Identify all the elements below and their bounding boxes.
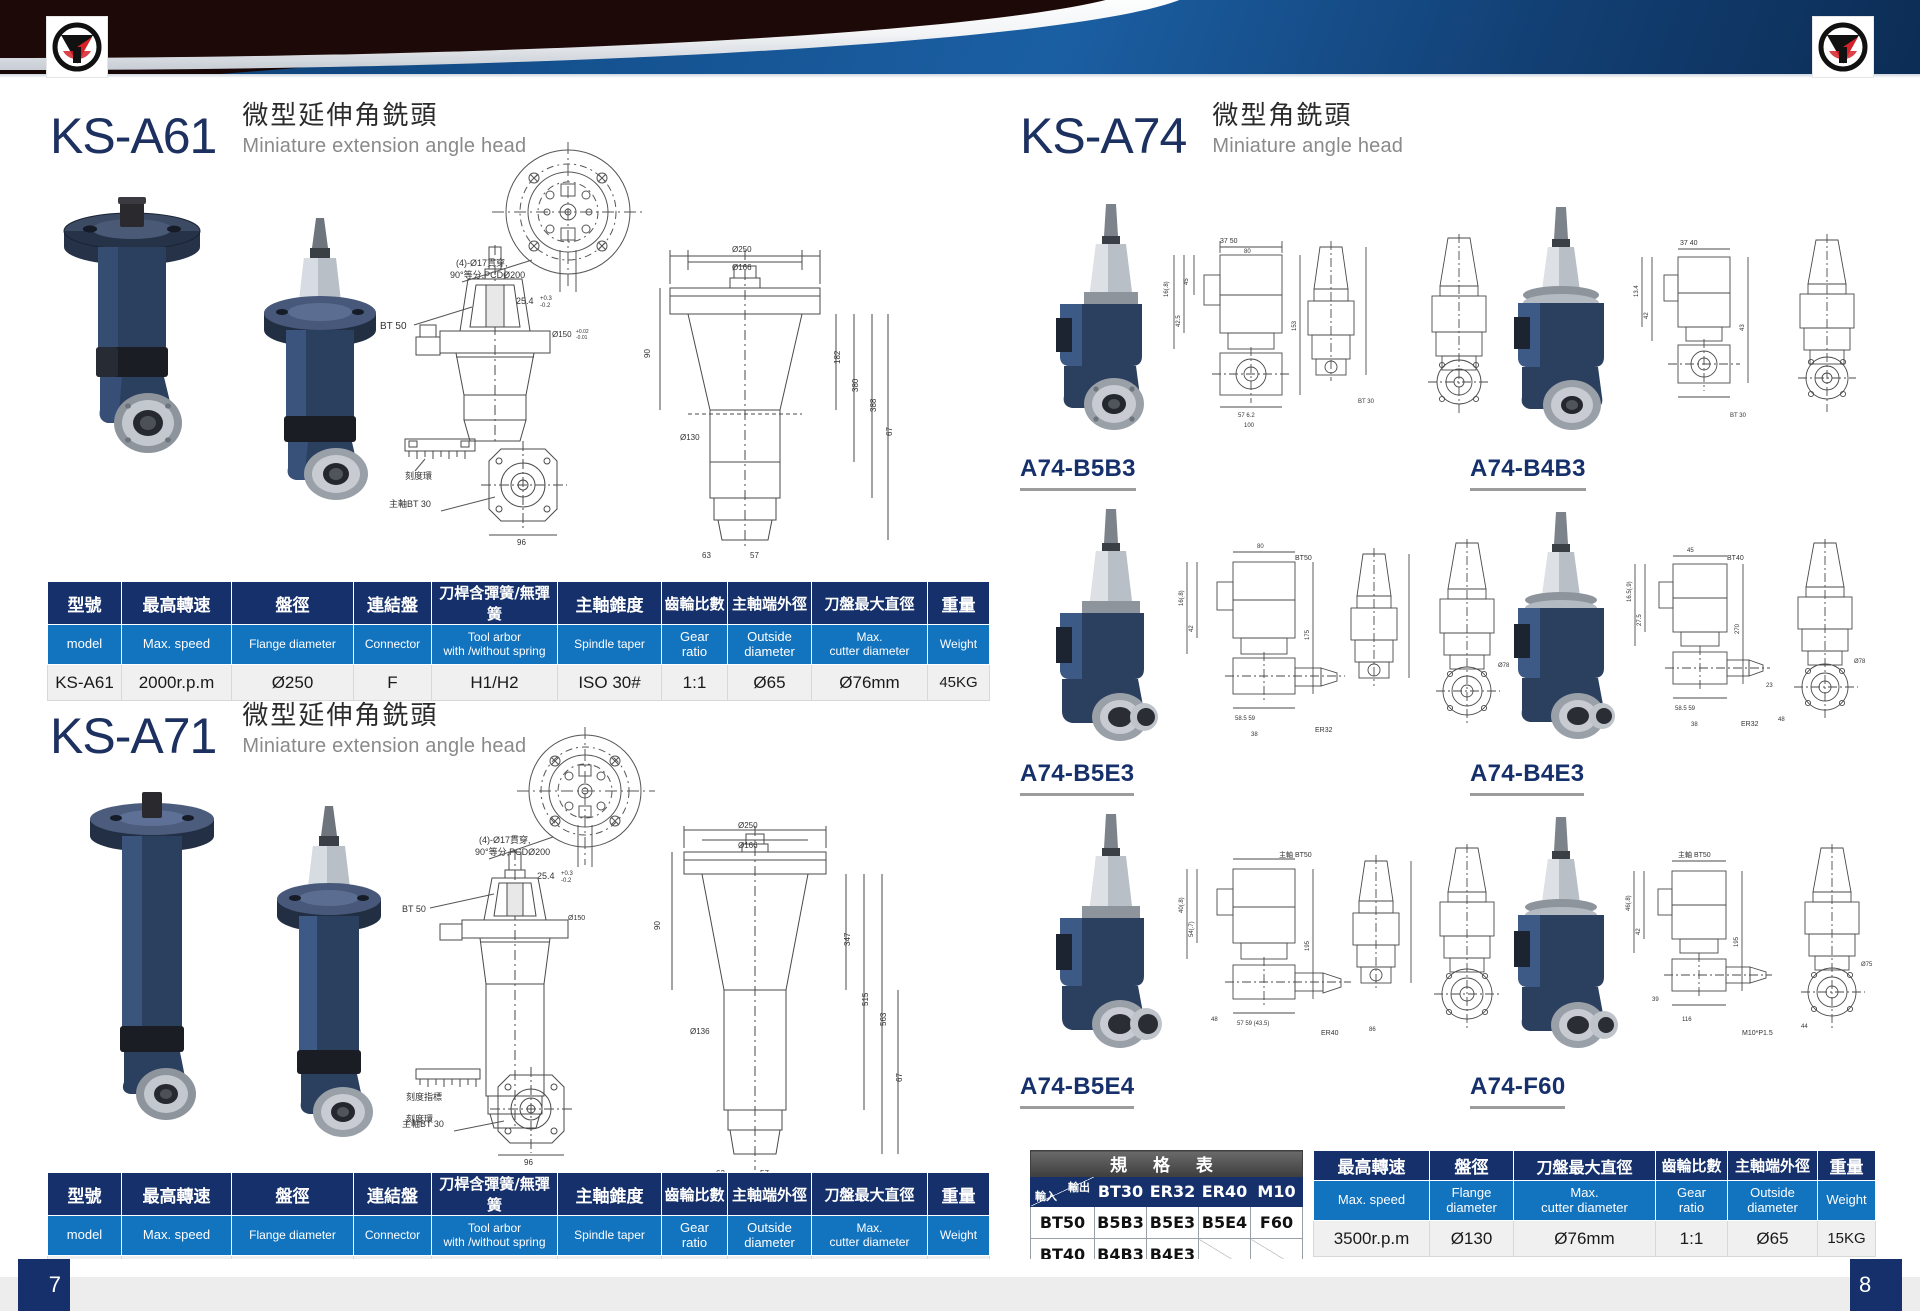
top-banner [0,0,1920,78]
spec-th-zh-5: 重量 [1818,1151,1876,1181]
spec-value-row-ks-a61: KS-A61 2000r.p.m Ø250 F H1/H2 ISO 30# 1:… [48,665,990,701]
spec-td-4: H1/H2 [432,665,558,701]
product-heading-ks-a71: KS-A71 微型延伸角銑頭 Miniature extension angle… [50,700,526,761]
svg-text:37 50: 37 50 [1220,238,1238,245]
product-model-ks-a74: KS-A74 [1020,113,1186,161]
product-photo-a74-b5e4 [1020,810,1190,1060]
spec-th-zh-3: 連結盤 [354,582,432,625]
spec-td-7: Ø65 [728,665,812,701]
engineering-drawing-a74-f60: 主軸 BT50 46(.8) 42 39 116 195 M10*P1.5 [1622,845,1782,1045]
svg-text:195: 195 [1734,936,1740,947]
svg-text:主軸 BT50: 主軸 BT50 [1678,850,1711,859]
variant-caption-a74-b5e3: A74-B5E3 [1020,760,1134,796]
matrix-axis-corner: 輸出 輸入 [1031,1177,1095,1207]
svg-text:67: 67 [895,1073,904,1082]
product-name-en-ks-a74: Miniature angle head [1212,133,1403,159]
matrix-axis-input-label: 輸入 [1035,1188,1057,1204]
spec-th-en-7: Outside diameter [728,625,812,665]
spec-th-zh-0: 型號 [48,1173,122,1216]
spec-th-zh-1: 最高轉速 [122,582,232,625]
svg-text:270: 270 [1735,623,1741,634]
svg-text:16(.8): 16(.8) [1179,590,1185,606]
page-number-right: 8 [1850,1259,1902,1311]
matrix-col-3: M10 [1251,1177,1303,1207]
spec-th-en-8: Max. cutter diameter [812,625,928,665]
spec-th-en-4: Tool arbor with /without spring [432,1216,558,1256]
spec-td-9: 45KG [928,665,990,701]
svg-text:57 59 (43.5): 57 59 (43.5) [1237,1021,1269,1027]
spec-th-zh-1: 盤徑 [1430,1151,1514,1181]
spec-td-5: 15KG [1818,1221,1876,1257]
engineering-drawing-ks-a61-bottom-detail: 刻度環 主軸BT 30 96 [385,435,625,550]
spec-th-en-8: Max. cutter diameter [812,1216,928,1256]
matrix-title-row: 規 格 表 [1031,1151,1303,1177]
spec-th-zh-5: 主軸錐度 [558,1173,662,1216]
company-y-logo-right [1812,16,1874,78]
svg-text:58.5 59: 58.5 59 [1235,716,1256,722]
spec-th-en-2: Flange diameter [232,1216,354,1256]
footer-grey-band [0,1277,1920,1311]
svg-text:Ø150: Ø150 [568,915,585,922]
spec-th-zh-7: 主軸端外徑 [728,1173,812,1216]
spec-th-zh-2: 盤徑 [232,1173,354,1216]
svg-text:Ø136: Ø136 [690,1027,710,1036]
spec-header-zh-row-a74: 最高轉速 盤徑 刀盤最大直徑 齒輪比數 主軸端外徑 重量 [1314,1151,1876,1181]
svg-text:48: 48 [1778,717,1785,723]
svg-text:80: 80 [1257,544,1264,550]
svg-text:Ø166: Ø166 [738,841,758,850]
product-photo-ks-a71-front [60,790,240,1130]
page-footer: 7 8 [0,1259,1920,1311]
svg-text:刻度環: 刻度環 [405,470,432,481]
svg-text:347: 347 [843,932,852,946]
engineering-drawing-a74-b4b3-side [1760,230,1905,420]
matrix-cell-0-0: B5B3 [1095,1207,1147,1239]
svg-text:Ø75: Ø75 [1861,962,1873,968]
spec-td-2: Ø76mm [1514,1221,1656,1257]
spec-th-en-4: Outside diameter [1728,1181,1818,1221]
product-photo-a74-b4e3 [1470,510,1640,755]
spec-th-en-5: Spindle taper [558,1216,662,1256]
svg-text:42: 42 [1636,928,1642,935]
svg-text:38: 38 [1691,722,1698,728]
matrix-col-0: BT30 [1095,1177,1147,1207]
engineering-drawing-ks-a61-section: BT 50 Ø150 +0.02 -0.01 [380,245,610,445]
spec-td-4: Ø65 [1728,1221,1818,1257]
matrix-row-label-0: BT50 [1031,1207,1095,1239]
svg-text:16.5(.9): 16.5(.9) [1627,581,1633,602]
svg-text:45: 45 [1184,278,1190,285]
spec-th-zh-2: 盤徑 [232,582,354,625]
page-number-left: 7 [18,1259,70,1311]
engineering-drawing-a74-b4e3-side: Ø78 23 48 [1758,535,1908,735]
svg-text:BT 50: BT 50 [402,904,426,914]
spec-table-ks-a61: 型號 最高轉速 盤徑 連結盤 刀桿含彈簧/無彈簧 主軸錐度 齒輪比數 主軸端外徑… [47,581,990,701]
svg-text:90: 90 [653,921,662,930]
svg-text:380: 380 [851,378,860,392]
spec-th-zh-6: 齒輪比數 [662,582,728,625]
product-photo-a74-f60 [1470,815,1640,1065]
product-model-ks-a61: KS-A61 [50,113,216,161]
svg-text:Ø166: Ø166 [732,263,752,272]
spec-th-zh-4: 主軸端外徑 [1728,1151,1818,1181]
banner-hairline [0,74,1920,78]
spec-th-en-1: Max. speed [122,1216,232,1256]
product-heading-ks-a74: KS-A74 微型角銑頭 Miniature angle head [1020,100,1403,161]
svg-text:Ø150: Ø150 [552,330,572,339]
spec-td-8: Ø76mm [812,665,928,701]
svg-text:-0.01: -0.01 [576,335,588,341]
engineering-drawing-a74-f60-side: Ø75 44 [1765,840,1915,1040]
engineering-drawing-ks-a71-elevation: Ø250 Ø166 90 347 515 563 67 Ø136 63 57 [650,820,910,1180]
svg-text:67: 67 [885,427,894,436]
spec-th-en-1: Flange diameter [1430,1181,1514,1221]
product-name-zh-ks-a74: 微型角銑頭 [1212,100,1403,133]
spec-th-en-5: Spindle taper [558,625,662,665]
svg-text:BT 50: BT 50 [380,321,407,332]
spec-th-en-7: Outside diameter [728,1216,812,1256]
variant-caption-a74-b4b3: A74-B4B3 [1470,455,1586,491]
spec-th-zh-7: 主軸端外徑 [728,582,812,625]
spec-th-en-0: Max. speed [1314,1181,1430,1221]
svg-text:BT50: BT50 [1295,555,1312,562]
matrix-cell-0-3: F60 [1251,1207,1303,1239]
product-photo-a74-b4b3 [1470,205,1630,440]
spec-header-zh-row-a71: 型號 最高轉速 盤徑 連結盤 刀桿含彈簧/無彈簧 主軸錐度 齒輪比數 主軸端外徑… [48,1173,990,1216]
engineering-drawing-a74-b4e3: 45 BT40 16.5(.9) 27.5 58.5 59 270 ER32 3… [1625,540,1780,740]
matrix-cell-0-2: B5E4 [1199,1207,1251,1239]
spec-th-en-0: model [48,625,122,665]
svg-text:13.4: 13.4 [1634,285,1640,297]
spec-th-en-6: Gear ratio [662,1216,728,1256]
svg-text:42.5: 42.5 [1176,315,1182,327]
svg-text:ER32: ER32 [1315,727,1333,734]
spec-th-zh-8: 刀盤最大直徑 [812,1173,928,1216]
svg-text:96: 96 [517,538,526,547]
spec-header-zh-row: 型號 最高轉速 盤徑 連結盤 刀桿含彈簧/無彈簧 主軸錐度 齒輪比數 主軸端外徑… [48,582,990,625]
spec-table-ks-a74: 最高轉速 盤徑 刀盤最大直徑 齒輪比數 主軸端外徑 重量 Max. speed … [1313,1150,1876,1257]
spec-header-en-row: model Max. speed Flange diameter Connect… [48,625,990,665]
svg-text:116: 116 [1682,1017,1692,1023]
variant-caption-a74-b5e4: A74-B5E4 [1020,1073,1134,1109]
svg-text:(4)-Ø17貫穿,: (4)-Ø17貫穿, [479,834,531,845]
product-photo-a74-b5e3 [1020,505,1190,755]
svg-text:37 40: 37 40 [1680,240,1698,247]
svg-text:16(.8): 16(.8) [1164,281,1170,297]
spec-th-zh-9: 重量 [928,582,990,625]
product-photo-ks-a61-front [40,195,220,475]
spec-th-zh-9: 重量 [928,1173,990,1216]
svg-text:BT 30: BT 30 [1730,413,1747,419]
svg-text:44: 44 [1801,1024,1808,1030]
spec-th-en-2: Flange diameter [232,625,354,665]
product-photo-ks-a61-angled [200,210,410,500]
svg-text:563: 563 [879,1012,888,1026]
spec-th-zh-4: 刀桿含彈簧/無彈簧 [432,1173,558,1216]
spec-td-0: 3500r.p.m [1314,1221,1430,1257]
svg-text:153: 153 [1292,320,1298,331]
spec-th-zh-1: 最高轉速 [122,1173,232,1216]
spec-th-zh-5: 主軸錐度 [558,582,662,625]
company-y-logo [46,16,108,78]
svg-text:57: 57 [750,551,759,560]
svg-text:ER32: ER32 [1741,721,1759,728]
spec-value-row-ks-a74: 3500r.p.m Ø130 Ø76mm 1:1 Ø65 15KG [1314,1221,1876,1257]
spec-th-en-2: Max. cutter diameter [1514,1181,1656,1221]
variant-caption-a74-b4e3: A74-B4E3 [1470,760,1584,796]
spec-th-zh-4: 刀桿含彈簧/無彈簧 [432,582,558,625]
spec-th-en-0: model [48,1216,122,1256]
svg-text:57 6.2: 57 6.2 [1238,413,1255,419]
spec-td-1: 2000r.p.m [122,665,232,701]
spec-th-en-1: Max. speed [122,625,232,665]
svg-text:96: 96 [524,1158,533,1167]
matrix-header-row: 輸出 輸入 BT30 ER32 ER40 M10 [1031,1177,1303,1207]
spec-th-zh-2: 刀盤最大直徑 [1514,1151,1656,1181]
spec-td-6: 1:1 [662,665,728,701]
svg-text:182: 182 [833,350,842,364]
svg-text:86: 86 [1369,1027,1376,1033]
variant-caption-a74-f60: A74-F60 [1470,1073,1565,1109]
svg-text:195: 195 [1305,940,1311,951]
engineering-drawing-a74-b5e3: 80 BT50 16(.8) 42 58.5 59 175 ER32 38 [1175,540,1425,740]
spec-th-en-5: Weight [1818,1181,1876,1221]
svg-text:Ø250: Ø250 [738,821,758,830]
spec-th-zh-0: 最高轉速 [1314,1151,1430,1181]
svg-text:38: 38 [1251,732,1258,738]
catalog-spread: KS-A61 微型延伸角銑頭 Miniature extension angle… [0,0,1920,1311]
matrix-row-bt50: BT50 B5B3 B5E3 B5E4 F60 [1031,1207,1303,1239]
svg-text:Ø130: Ø130 [680,433,700,442]
engineering-drawing-a74-b5e4: 主軸 BT50 40(.8) 54(.7) 48 57 59 (43.5) 19… [1175,845,1425,1045]
engineering-drawing-ks-a61-elevation: Ø250 Ø166 90 182 380 388 67 Ø130 63 57 [640,240,900,560]
spec-th-en-4: Tool arbor with /without spring [432,625,558,665]
spec-th-en-6: Gear ratio [662,625,728,665]
spec-header-en-row-a74: Max. speed Flange diameter Max. cutter d… [1314,1181,1876,1221]
product-model-ks-a71: KS-A71 [50,713,216,761]
svg-text:主軸BT 30: 主軸BT 30 [389,498,431,509]
svg-text:主軸BT 30: 主軸BT 30 [402,1118,444,1129]
variant-caption-a74-b5b3: A74-B5B3 [1020,455,1136,491]
svg-text:Ø250: Ø250 [732,245,752,254]
svg-text:BT 30: BT 30 [1358,399,1375,405]
spec-th-en-9: Weight [928,1216,990,1256]
svg-text:23: 23 [1766,683,1773,689]
svg-text:388: 388 [869,398,878,412]
spec-td-5: ISO 30# [558,665,662,701]
engineering-drawing-ks-a71-bottom-detail: 主軸BT 30 96 [398,1065,638,1165]
spec-td-3: F [354,665,432,701]
svg-text:100: 100 [1244,423,1255,429]
spec-td-2: Ø250 [232,665,354,701]
spec-th-en-3: Connector [354,625,432,665]
svg-text:40(.8): 40(.8) [1179,897,1185,913]
spec-th-en-9: Weight [928,625,990,665]
matrix-col-2: ER40 [1199,1177,1251,1207]
svg-text:Ø78: Ø78 [1854,659,1866,665]
spec-th-zh-8: 刀盤最大直徑 [812,582,928,625]
spec-td-0: KS-A61 [48,665,122,701]
spec-th-zh-3: 齒輪比數 [1656,1151,1728,1181]
svg-text:39: 39 [1652,997,1659,1003]
svg-text:46(.8): 46(.8) [1626,895,1632,911]
svg-text:175: 175 [1305,629,1311,640]
svg-text:BT40: BT40 [1727,555,1744,562]
svg-text:80: 80 [1244,249,1251,255]
engineering-drawing-a74-b4b3: 37 40 13.4 42 43 BT 30 [1630,235,1780,425]
svg-text:主軸 BT50: 主軸 BT50 [1279,850,1312,859]
spec-td-3: 1:1 [1656,1221,1728,1257]
product-photo-a74-b5b3 [1020,200,1180,440]
svg-text:54(.7): 54(.7) [1189,921,1195,937]
matrix-axis-output-label: 輸出 [1068,1179,1090,1195]
product-photo-ks-a71-angled [215,800,415,1150]
svg-text:42: 42 [1189,625,1195,632]
spec-th-en-3: Connector [354,1216,432,1256]
spec-th-zh-6: 齒輪比數 [662,1173,728,1216]
matrix-title: 規 格 表 [1031,1151,1303,1177]
engineering-drawing-a74-b5b3: 37 50 80 16(.8) 45 42.5 57 6.2 153 100 B… [1160,235,1410,430]
svg-text:515: 515 [861,992,870,1006]
spec-header-en-row-a71: model Max. speed Flange diameter Connect… [48,1216,990,1256]
spec-td-1: Ø130 [1430,1221,1514,1257]
selection-matrix-table: 規 格 表 輸出 輸入 BT30 ER32 ER40 M10 BT50 B5B3… [1030,1150,1303,1271]
svg-text:90: 90 [643,349,652,358]
product-name-zh-ks-a61: 微型延伸角銑頭 [242,100,526,133]
spec-th-en-3: Gear ratio [1656,1181,1728,1221]
spec-th-zh-3: 連結盤 [354,1173,432,1216]
svg-text:48: 48 [1211,1017,1218,1023]
svg-text:42: 42 [1644,312,1650,319]
svg-text:27.5: 27.5 [1637,614,1643,626]
matrix-cell-0-1: B5E3 [1147,1207,1199,1239]
svg-text:63: 63 [702,551,711,560]
matrix-col-1: ER32 [1147,1177,1199,1207]
svg-text:58.5 59: 58.5 59 [1675,706,1696,712]
svg-text:43: 43 [1740,324,1746,331]
spec-th-zh-0: 型號 [48,582,122,625]
svg-text:45: 45 [1687,548,1694,554]
svg-text:ER40: ER40 [1321,1030,1339,1037]
